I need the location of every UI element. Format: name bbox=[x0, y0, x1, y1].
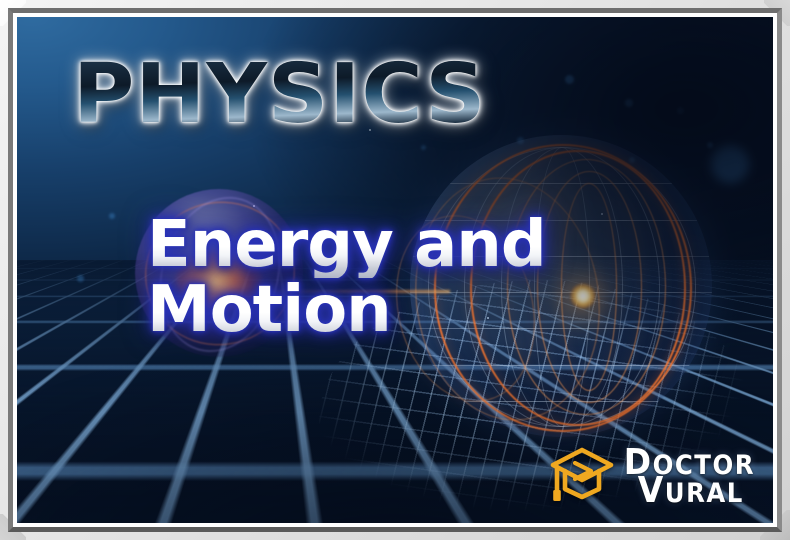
brand-logo-wordmark: DOCTOR VURAL bbox=[624, 448, 755, 503]
picture-frame: PHYSICS Energy and Motion D bbox=[0, 0, 790, 540]
frame-matte: PHYSICS Energy and Motion D bbox=[13, 13, 777, 527]
subtitle-line-1: Energy and bbox=[147, 213, 546, 278]
graduation-cap-icon bbox=[549, 445, 615, 507]
page-title: PHYSICS bbox=[73, 55, 487, 135]
brand-word-vural-rest: URAL bbox=[665, 477, 744, 508]
brand-word-vural-cap: V bbox=[638, 468, 665, 510]
brand-word-vural: VURAL bbox=[638, 475, 755, 505]
subtitle-block: Energy and Motion bbox=[147, 213, 546, 344]
brand-logo[interactable]: DOCTOR VURAL bbox=[549, 445, 755, 507]
artwork-canvas: PHYSICS Energy and Motion D bbox=[17, 17, 773, 523]
subtitle-line-2: Motion bbox=[147, 278, 546, 343]
